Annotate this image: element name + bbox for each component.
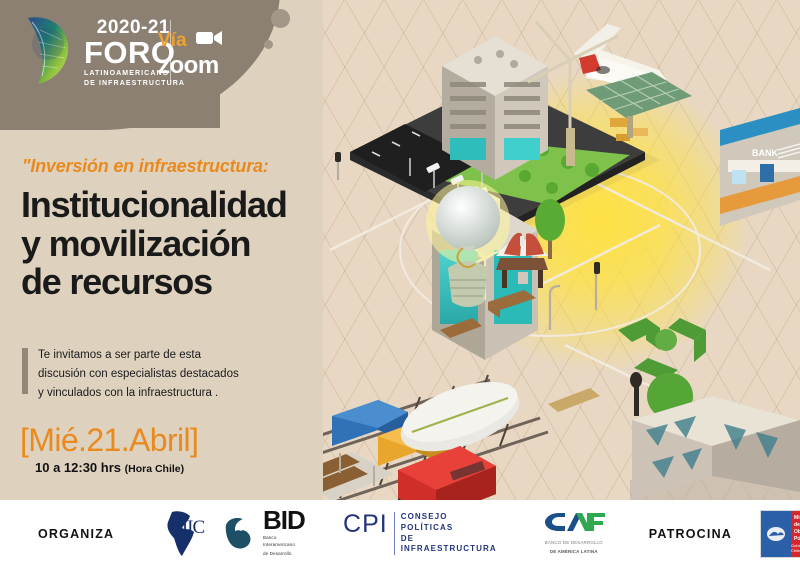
- ministerio-line1: Ministerio de: [794, 515, 800, 529]
- bank-building: BANK: [720, 108, 800, 226]
- office-tower: [442, 36, 548, 180]
- ministerio-obras-publicas-logo: Ministerio de Obras Públicas Gobierno de…: [760, 510, 800, 558]
- caf-wordmark-icon: [543, 511, 605, 533]
- freight-train: [300, 370, 548, 500]
- patrocina-label: PATROCINA: [649, 527, 732, 541]
- invitation-accent-bar: [22, 348, 28, 394]
- decorative-dot-large: [271, 9, 290, 28]
- invitation-block: Te invitamos a ser parte de esta discusi…: [22, 346, 292, 403]
- event-date: [Mié.21.Abril]: [20, 422, 198, 459]
- headline-line-3: de recursos: [21, 263, 321, 302]
- invitation-text: Te invitamos a ser parte de esta discusi…: [38, 346, 292, 403]
- bid-wordmark: BID: [263, 509, 307, 532]
- headline-line-2: y movilización: [21, 225, 321, 264]
- event-poster: BANK: [0, 0, 800, 567]
- cpi-logo: CPI CONSEJO POLÍTICAS DE INFRAESTRUCTURA: [343, 512, 497, 555]
- turbine-base: [566, 128, 575, 166]
- sponsor-footer: ORGANIZA FIIC BID Banco Interamericano d…: [0, 500, 800, 567]
- caf-sub-line1: BANCO DE DESARROLLO: [543, 540, 605, 547]
- cpi-wordmark: CPI: [343, 512, 388, 537]
- bid-logo: BID Banco Interamericano de Desarrollo: [222, 509, 307, 557]
- event-timezone: (Hora Chile): [125, 463, 185, 475]
- ministerio-line3: Gobierno de Chile: [791, 543, 800, 553]
- cpi-text-line1: CONSEJO POLÍTICAS: [401, 512, 497, 534]
- bid-sub-line2: de Desarrollo: [263, 551, 307, 558]
- bank-sign-text: BANK: [752, 148, 778, 158]
- isometric-city-infrastructure-illustration: BANK: [300, 0, 800, 500]
- bid-swoosh-icon: [222, 515, 258, 553]
- headline-line-1: Institucionalidad: [21, 186, 321, 225]
- page-title: Institucionalidad y movilización de recu…: [21, 186, 321, 302]
- fiic-wordmark: FIIC: [172, 517, 204, 539]
- ministerio-text: Ministerio de Obras Públicas Gobierno de…: [791, 511, 800, 557]
- event-time-value: 10 a 12:30 hrs: [35, 460, 121, 475]
- via-zoom-badge: Vía zoom: [158, 30, 238, 86]
- video-camera-icon: [196, 30, 222, 51]
- zoom-label: zoom: [158, 54, 238, 78]
- via-label: Vía: [158, 31, 187, 50]
- caf-sub-line2: DE AMÉRICA LATINA: [543, 549, 605, 556]
- caf-logo: BANCO DE DESARROLLO DE AMÉRICA LATINA: [543, 511, 605, 555]
- ministerio-line2: Obras Públicas: [794, 529, 800, 543]
- vintage-lamp-post: [630, 372, 642, 416]
- quote-line: "Inversión en infraestructura:: [22, 156, 269, 177]
- invitation-line-2: discusión con especialistas destacados: [38, 365, 292, 384]
- bid-sub-line1: Banco Interamericano: [263, 535, 307, 549]
- city-scene-svg: BANK: [300, 0, 800, 500]
- invitation-line-1: Te invitamos a ser parte de esta: [38, 346, 292, 365]
- foro-globe-leaf-logo: [22, 14, 80, 86]
- fiic-logo: FIIC: [160, 508, 208, 560]
- recycling-hedge-symbol: [618, 318, 706, 382]
- organiza-label: ORGANIZA: [38, 527, 114, 541]
- decorative-dot-small: [264, 40, 273, 49]
- ministerio-crest: [761, 511, 791, 557]
- invitation-line-3: y vinculados con la infraestructura .: [38, 384, 292, 403]
- cpi-text-line2: DE INFRAESTRUCTURA: [401, 534, 497, 556]
- event-time: 10 a 12:30 hrs (Hora Chile): [35, 460, 184, 475]
